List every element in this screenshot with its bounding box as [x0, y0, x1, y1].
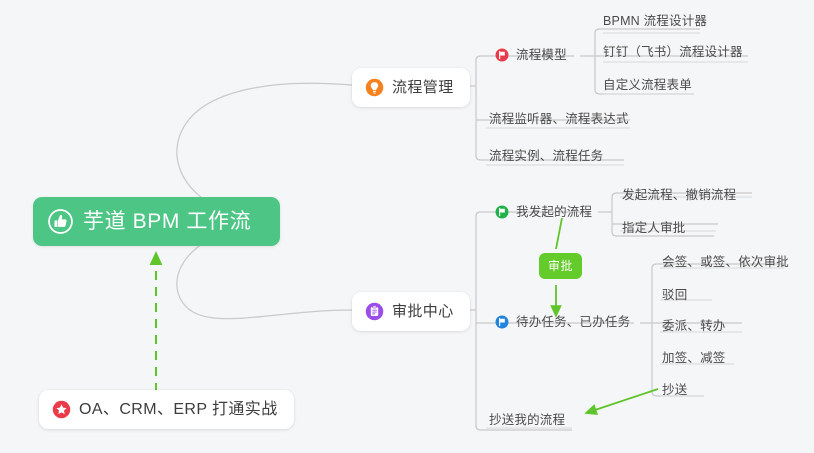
clipboard-icon	[365, 302, 384, 321]
flag-red-icon	[495, 48, 509, 62]
root-node[interactable]: 芋道 BPM 工作流	[33, 197, 280, 246]
edge-spine-process-management	[476, 56, 630, 160]
thumbs-up-icon	[48, 209, 73, 234]
arrow-my-started-to-tag	[556, 218, 562, 249]
flag-blue-icon	[495, 315, 509, 329]
arrow-cc-to-cc-my-process	[586, 389, 658, 413]
node-my-started-process[interactable]: 我发起的流程	[495, 205, 592, 219]
mindmap-canvas: 芋道 BPM 工作流 OA、CRM、ERP 打通实战 流程管理	[0, 0, 814, 453]
branch-label-process-management: 流程管理	[392, 80, 454, 95]
leaf-assignee-approval[interactable]: 指定人审批	[622, 222, 686, 235]
branch-node-approval-center[interactable]: 审批中心	[352, 292, 470, 331]
leaf-add-remove-sign[interactable]: 加签、减签	[662, 352, 726, 365]
branch-label-approval-center: 审批中心	[392, 304, 454, 319]
leaf-listener-expression[interactable]: 流程监听器、流程表达式	[489, 113, 629, 126]
lightbulb-icon	[365, 78, 384, 97]
branch-node-process-management[interactable]: 流程管理	[352, 68, 470, 107]
leaf-cc[interactable]: 抄送	[662, 384, 687, 397]
node-process-model[interactable]: 流程模型	[495, 48, 567, 62]
node-label-todo-done-tasks: 待办任务、已办任务	[516, 316, 630, 329]
star-icon	[52, 400, 71, 419]
leaf-custom-process-form[interactable]: 自定义流程表单	[603, 79, 692, 92]
leaf-instance-task[interactable]: 流程实例、流程任务	[489, 150, 603, 163]
leaf-cc-to-me[interactable]: 抄送我的流程	[489, 414, 565, 427]
root-label: 芋道 BPM 工作流	[83, 211, 251, 232]
node-label-process-model: 流程模型	[516, 49, 567, 62]
footnote-label: OA、CRM、ERP 打通实战	[79, 402, 278, 418]
approval-tag: 审批	[539, 253, 582, 279]
footnote-node[interactable]: OA、CRM、ERP 打通实战	[39, 390, 294, 429]
node-label-my-started-process: 我发起的流程	[516, 206, 592, 219]
leaf-bpmn-designer[interactable]: BPMN 流程设计器	[603, 15, 707, 28]
leaf-reject[interactable]: 驳回	[662, 289, 687, 302]
leaf-start-cancel-process[interactable]: 发起流程、撤销流程	[622, 189, 736, 202]
leaf-countersign[interactable]: 会签、或签、依次审批	[662, 256, 789, 269]
flag-green-icon	[495, 205, 509, 219]
leaf-delegate-transfer[interactable]: 委派、转办	[662, 320, 726, 333]
leaf-dingtalk-feishu-designer[interactable]: 钉钉（飞书）流程设计器	[603, 46, 743, 59]
node-todo-done-tasks[interactable]: 待办任务、已办任务	[495, 315, 630, 329]
